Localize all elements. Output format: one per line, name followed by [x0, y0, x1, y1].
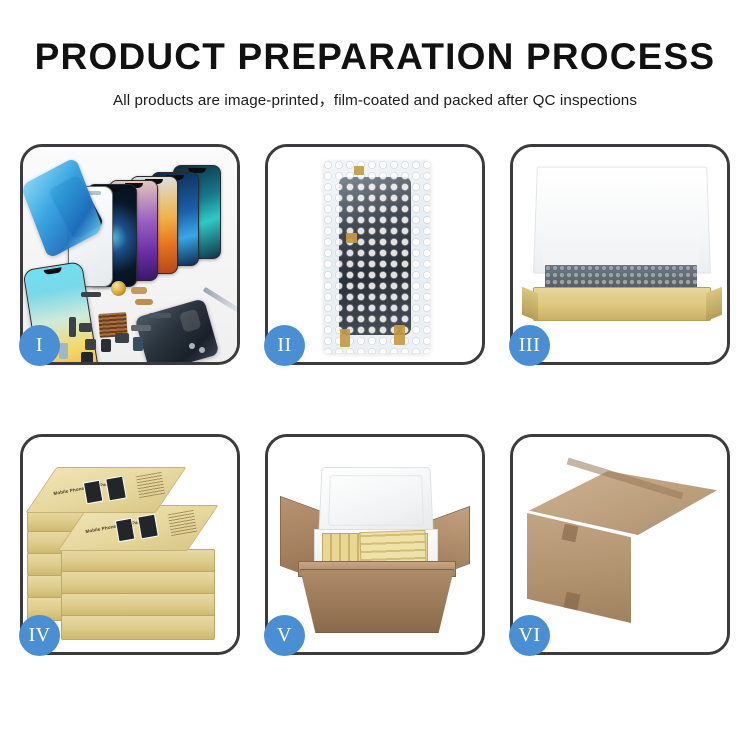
- step-badge-6: VI: [509, 615, 550, 656]
- small-part: [69, 317, 76, 337]
- step-badge-3: III: [509, 325, 550, 366]
- step-badge-4: IV: [19, 615, 60, 656]
- page-title: PRODUCT PREPARATION PROCESS: [0, 38, 750, 77]
- step-panel-2[interactable]: II: [265, 144, 485, 365]
- step-badge-2: II: [264, 325, 305, 366]
- foam-sheet-white: [543, 193, 699, 265]
- stacked-box: [61, 593, 215, 617]
- small-part: [79, 323, 92, 332]
- small-part: [135, 299, 153, 305]
- small-part: [81, 352, 93, 362]
- bubble-wrap-bag: [324, 161, 430, 353]
- step-image-4: Mobile Phone Spare Parts Mobile Phone Sp…: [23, 437, 237, 652]
- box-window-phone: [105, 476, 127, 502]
- step-image-2: [268, 147, 482, 362]
- box-window-phone: [83, 480, 104, 505]
- small-part: [85, 339, 96, 350]
- step-panel-6[interactable]: VI: [510, 434, 730, 655]
- small-part: [115, 333, 129, 343]
- foam-box-lid: [318, 467, 433, 535]
- kraft-box-tray: [533, 287, 711, 321]
- page-header: PRODUCT PREPARATION PROCESS All products…: [0, 0, 750, 110]
- small-part: [149, 313, 171, 318]
- small-part: [81, 292, 101, 297]
- small-part: [131, 325, 151, 331]
- step-image-3: [513, 147, 727, 362]
- step-panel-3[interactable]: III: [510, 144, 730, 365]
- step-panel-1[interactable]: I: [20, 144, 240, 365]
- notch-icon: [44, 267, 62, 274]
- process-steps-grid: I II III: [20, 144, 730, 655]
- step-badge-5: V: [264, 615, 305, 656]
- small-part: [59, 343, 68, 359]
- small-part: [101, 339, 111, 352]
- box-spec-lines: [168, 510, 197, 536]
- box-stack: Mobile Phone Spare Parts Mobile Phone Sp…: [25, 445, 237, 650]
- tape-piece: [394, 325, 405, 345]
- bubble-texture: [324, 161, 430, 353]
- carton-body: [300, 569, 454, 633]
- step-image-1: [23, 147, 237, 362]
- step-image-6: [513, 437, 727, 652]
- box-window-phone: [137, 514, 159, 540]
- small-part: [189, 343, 195, 349]
- box-window-phone: [115, 518, 136, 543]
- page-subtitle: All products are image-printed，film-coat…: [0, 88, 750, 110]
- step-badge-1: I: [19, 325, 60, 366]
- tape-piece: [354, 166, 364, 175]
- small-part: [199, 347, 205, 353]
- stacked-box: [61, 615, 215, 640]
- small-part: [133, 337, 143, 351]
- stacked-box: [61, 571, 215, 595]
- step-panel-4[interactable]: Mobile Phone Spare Parts Mobile Phone Sp…: [20, 434, 240, 655]
- box-spec-lines: [136, 472, 165, 498]
- small-part: [131, 287, 147, 294]
- stacked-box: [61, 549, 215, 573]
- vibration-motor-part: [111, 281, 126, 296]
- step-panel-5[interactable]: V: [265, 434, 485, 655]
- tape-piece: [346, 233, 357, 243]
- step-image-5: [268, 437, 482, 652]
- tape-piece: [340, 329, 350, 347]
